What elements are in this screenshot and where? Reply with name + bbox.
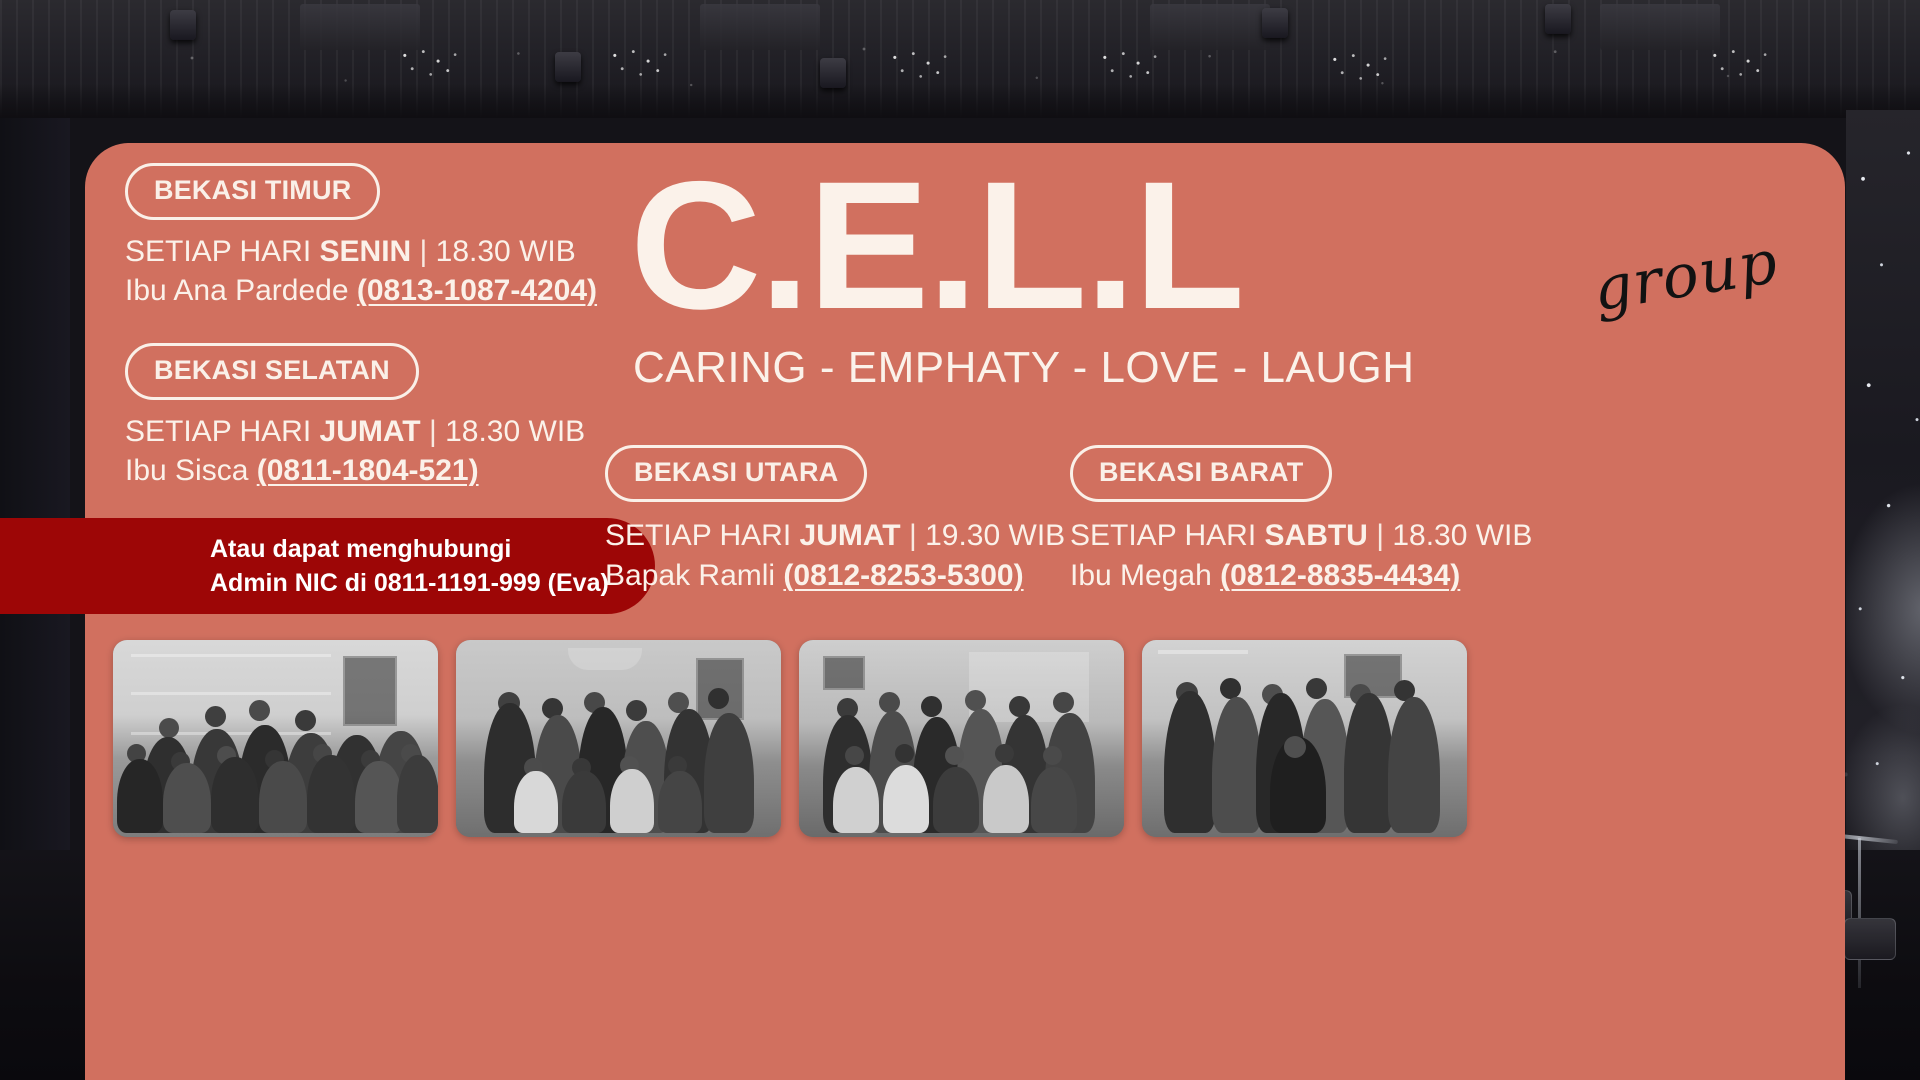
pill-bekasi-selatan[interactable]: BEKASI SELATAN <box>125 343 419 400</box>
led-cluster <box>600 44 674 82</box>
group-block-bekasi-selatan: BEKASI SELATAN SETIAP HARI JUMAT | 18.30… <box>125 343 585 490</box>
page-title: C.E.L.L <box>630 153 1243 339</box>
schedule-time: 19.30 WIB <box>925 519 1065 552</box>
schedule-separator: | <box>1368 519 1392 552</box>
light-truss <box>1600 4 1720 50</box>
spotlight-icon <box>1545 4 1571 34</box>
schedule-separator: | <box>901 519 925 552</box>
contact-name: Ibu Ana Pardede <box>125 274 357 307</box>
spotlight-icon <box>170 10 196 40</box>
led-cluster <box>1700 44 1774 82</box>
schedule-separator: | <box>421 415 445 448</box>
schedule-line: SETIAP HARI JUMAT | 18.30 WIB <box>125 412 585 451</box>
left-wall <box>0 110 70 910</box>
schedule-time: 18.30 WIB <box>445 415 585 448</box>
schedule-line: SETIAP HARI JUMAT | 19.30 WIB <box>605 516 1065 556</box>
led-cluster <box>1320 48 1394 86</box>
contact-line: Bapak Ramli (0812-8253-5300) <box>605 556 1065 596</box>
led-cluster <box>390 44 464 82</box>
photo-thumbnail <box>1142 640 1467 837</box>
brand-script-word: group <box>1589 227 1783 325</box>
schedule-time: 18.30 WIB <box>1392 519 1532 552</box>
contact-name: Ibu Megah <box>1070 559 1220 592</box>
schedule-line: SETIAP HARI SABTU | 18.30 WIB <box>1070 516 1532 556</box>
light-truss <box>700 4 820 50</box>
pill-bekasi-utara[interactable]: BEKASI UTARA <box>605 445 867 502</box>
spotlight-icon <box>555 52 581 82</box>
schedule-day: JUMAT <box>800 519 901 552</box>
schedule-separator: | <box>411 235 435 268</box>
contact-name: Bapak Ramli <box>605 559 783 592</box>
schedule-prefix: SETIAP HARI <box>125 235 320 268</box>
contact-phone[interactable]: (0811-1804-521) <box>257 454 479 487</box>
contact-line: Ibu Ana Pardede (0813-1087-4204) <box>125 271 597 310</box>
brand-tagline: CARING - EMPHATY - LOVE - LAUGH <box>633 343 1415 393</box>
admin-banner-line-2: Admin NIC di 0811-1191-999 (Eva) <box>210 566 655 600</box>
schedule-day: SABTU <box>1265 519 1368 552</box>
photo-thumbnail <box>456 640 781 837</box>
admin-banner-line-1: Atau dapat menghubungi <box>210 532 655 566</box>
schedule-prefix: SETIAP HARI <box>125 415 320 448</box>
schedule-day: SENIN <box>320 235 412 268</box>
group-block-bekasi-utara: BEKASI UTARA SETIAP HARI JUMAT | 19.30 W… <box>605 445 1065 596</box>
light-truss <box>1150 4 1270 50</box>
admin-contact-banner[interactable]: Atau dapat menghubungi Admin NIC di 0811… <box>0 518 655 614</box>
pill-bekasi-timur[interactable]: BEKASI TIMUR <box>125 163 380 220</box>
schedule-day: JUMAT <box>320 415 421 448</box>
group-block-bekasi-timur: BEKASI TIMUR SETIAP HARI SENIN | 18.30 W… <box>125 163 597 310</box>
photo-thumbnail <box>799 640 1124 837</box>
contact-name: Ibu Sisca <box>125 454 257 487</box>
contact-phone[interactable]: (0812-8835-4434) <box>1220 559 1460 592</box>
contact-phone[interactable]: (0812-8253-5300) <box>783 559 1023 592</box>
spotlight-icon <box>820 58 846 88</box>
schedule-prefix: SETIAP HARI <box>1070 519 1265 552</box>
spotlight-icon <box>1262 8 1288 38</box>
contact-phone[interactable]: (0813-1087-4204) <box>357 274 597 307</box>
contact-line: Ibu Megah (0812-8835-4434) <box>1070 556 1532 596</box>
brand-title-wrap: C.E.L.L group <box>630 153 1810 339</box>
schedule-time: 18.30 WIB <box>436 235 576 268</box>
group-block-bekasi-barat: BEKASI BARAT SETIAP HARI SABTU | 18.30 W… <box>1070 445 1532 596</box>
led-cluster <box>880 46 954 84</box>
schedule-line: SETIAP HARI SENIN | 18.30 WIB <box>125 232 597 271</box>
light-truss <box>300 4 420 50</box>
photo-thumbnail <box>113 640 438 837</box>
contact-line: Ibu Sisca (0811-1804-521) <box>125 451 585 490</box>
photo-strip <box>113 640 1467 837</box>
schedule-prefix: SETIAP HARI <box>605 519 800 552</box>
pill-bekasi-barat[interactable]: BEKASI BARAT <box>1070 445 1332 502</box>
main-poster-card: BEKASI TIMUR SETIAP HARI SENIN | 18.30 W… <box>85 143 1845 1080</box>
led-cluster <box>1090 46 1164 84</box>
